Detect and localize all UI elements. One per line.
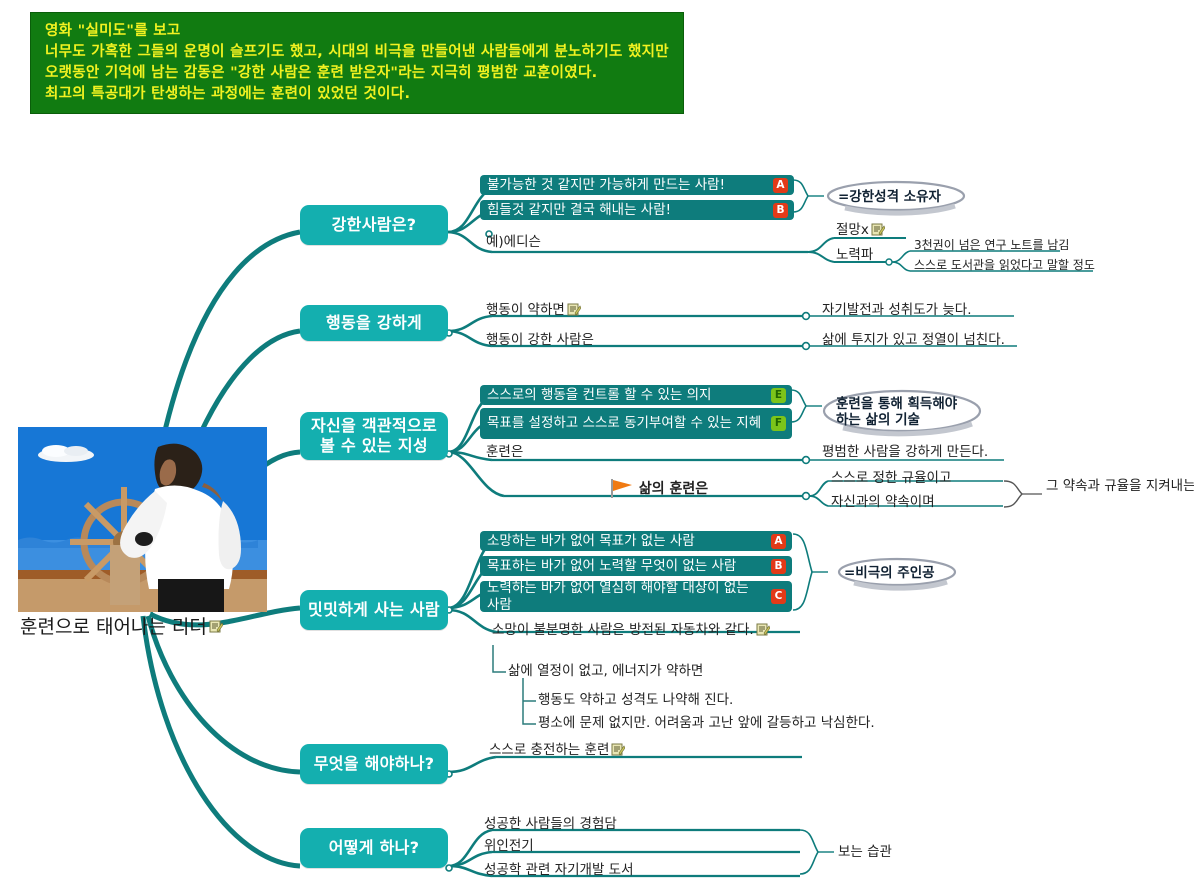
node-success-stories[interactable]: 성공한 사람들의 경험담 — [484, 816, 617, 833]
node-label: 평범한 사람을 강하게 만든다. — [822, 444, 988, 460]
node-self-promise[interactable]: 자신과의 약속이며 — [831, 494, 935, 511]
callout-strong-character: =강한성격 소유자 — [828, 188, 968, 206]
node-label: 자신과의 약속이며 — [831, 494, 935, 510]
header-note-line-4: 최고의 특공대가 탄생하는 과정에는 훈련이 있었던 것이다. — [45, 84, 673, 105]
branch-pill-what-to-do[interactable]: 무엇을 해야하나? — [300, 744, 448, 784]
badge-c: C — [771, 589, 786, 604]
header-note-line-2: 너무도 가혹한 그들의 운명이 슬프기도 했고, 시대의 비극을 만들어낸 사람… — [45, 42, 673, 63]
node-label: 평소에 문제 없지만. 어려움과 고난 앞에 갈등하고 낙심한다. — [538, 715, 875, 731]
node-label: 행동이 강한 사람은 — [486, 332, 594, 348]
node-life-training[interactable]: 삶의 훈련은 — [608, 478, 708, 498]
node-training-is[interactable]: 훈련은 — [486, 444, 523, 461]
node-will-control[interactable]: 스스로의 행동을 컨트롤 할 수 있는 의지 E — [480, 385, 792, 405]
node-no-hope-no-goal[interactable]: 소망하는 바가 없어 목표가 없는 사람 A — [480, 531, 792, 551]
note-icon[interactable] — [567, 303, 581, 316]
node-self-recharge[interactable]: 스스로 충전하는 훈련 — [489, 742, 625, 759]
node-no-passion[interactable]: 삶에 열정이 없고, 에너지가 약하면 — [508, 663, 703, 680]
node-conflict-discouraged[interactable]: 평소에 문제 없지만. 어려움과 고난 앞에 갈등하고 낙심한다. — [538, 715, 875, 732]
node-keep-promise[interactable]: 그 약속과 규율을 지켜내는 것이다. — [1046, 478, 1194, 495]
node-label: 그 약속과 규율을 지켜내는 것이다. — [1046, 478, 1194, 494]
node-label: 소망이 불분명한 사람은 방전된 자동차와 같다. — [492, 622, 754, 638]
branch-label: 무엇을 해야하나? — [314, 754, 435, 774]
callout-life-skill: 훈련을 통해 획득해야 하는 삶의 기술 — [826, 396, 996, 428]
callout-tragedy-hero: =비극의 주인공 — [834, 564, 964, 582]
node-label: 성공한 사람들의 경험담 — [484, 816, 617, 832]
callout-label: 보는 습관 — [838, 844, 892, 860]
callout-label: =강한성격 소유자 — [838, 189, 941, 205]
node-goal-motivation[interactable]: 목표를 설정하고 스스로 동기부여할 수 있는 지혜 F — [480, 408, 792, 439]
callout-reading-habit: 보는 습관 — [838, 844, 892, 861]
node-weak-action-result[interactable]: 자기발전과 성취도가 늦다. — [822, 302, 972, 319]
root-node-label: 훈련으로 태어나는 리더 — [20, 616, 207, 638]
node-no-goal-no-effort[interactable]: 목표하는 바가 없어 노력할 무엇이 없는 사람 B — [480, 556, 792, 576]
center-illustration[interactable] — [18, 427, 267, 612]
node-label: 절망x — [836, 222, 869, 238]
root-node-title[interactable]: 훈련으로 태어나는 리더 — [20, 612, 280, 638]
node-label: 행동이 약하면 — [486, 302, 565, 318]
callout-label: 훈련을 통해 획득해야 하는 삶의 기술 — [836, 396, 957, 428]
node-label: 행동도 약하고 성격도 나약해 진다. — [538, 692, 733, 708]
node-self-rule[interactable]: 스스로 정한 규율이고 — [831, 470, 951, 487]
node-label: 스스로의 행동을 컨트롤 할 수 있는 의지 — [487, 387, 765, 404]
node-strong-person-a[interactable]: 불가능한 것 같지만 가능하게 만드는 사람! A — [480, 175, 794, 195]
badge-a: A — [771, 534, 786, 549]
node-no-effort-no-target[interactable]: 노력하는 바가 없어 열심히 해야할 대상이 없는 사람 C — [480, 581, 792, 612]
note-icon[interactable] — [871, 223, 885, 236]
badge-a: A — [773, 178, 788, 193]
node-strong-action-result[interactable]: 삶에 투지가 있고 정열이 넘친다. — [822, 332, 1005, 349]
node-unclear-hope[interactable]: 소망이 불분명한 사람은 방전된 자동차와 같다. — [492, 622, 782, 639]
branch-label: 행동을 강하게 — [326, 313, 422, 333]
node-strong-person-b[interactable]: 힘들것 같지만 결국 해내는 사람! B — [480, 200, 794, 220]
node-weak-action[interactable]: 행동이 약하면 — [486, 302, 581, 319]
header-note-box: 영화 "실미도"를 보고 너무도 가혹한 그들의 운명이 슬프기도 했고, 시대… — [30, 12, 684, 114]
node-edison-library[interactable]: 스스로 도서관을 읽었다고 말할 정도 — [914, 258, 1095, 273]
node-training-makes-strong[interactable]: 평범한 사람을 강하게 만든다. — [822, 444, 988, 461]
node-weak-action-personality[interactable]: 행동도 약하고 성격도 나약해 진다. — [538, 692, 733, 709]
node-label: 삶에 투지가 있고 정열이 넘친다. — [822, 332, 1005, 348]
header-note-line-3: 오랫동안 기억에 남는 감동은 "강한 사람은 훈련 받은자"라는 지극히 평범… — [45, 63, 673, 84]
callout-label: =비극의 주인공 — [844, 565, 935, 581]
node-label: 성공학 관련 자기개발 도서 — [484, 862, 634, 878]
node-label: 훈련은 — [486, 444, 523, 460]
badge-b: B — [773, 203, 788, 218]
node-edison[interactable]: 예)에디슨 — [486, 234, 541, 251]
note-icon[interactable] — [209, 616, 223, 629]
branch-label: 밋밋하게 사는 사람 — [308, 600, 440, 620]
branch-pill-how-to-do[interactable]: 어떻게 하나? — [300, 828, 448, 868]
branch-pill-strong-person[interactable]: 강한사람은? — [300, 205, 448, 245]
note-icon[interactable] — [611, 743, 625, 756]
node-strong-action[interactable]: 행동이 강한 사람은 — [486, 332, 594, 349]
node-label: 힘들것 같지만 결국 해내는 사람! — [487, 202, 767, 219]
badge-b: B — [771, 559, 786, 574]
node-label: 삶의 훈련은 — [639, 481, 708, 497]
mindmap-canvas: 영화 "실미도"를 보고 너무도 가혹한 그들의 운명이 슬프기도 했고, 시대… — [0, 0, 1194, 893]
badge-f: F — [771, 416, 786, 431]
node-label: 삶에 열정이 없고, 에너지가 약하면 — [508, 663, 703, 679]
node-label: 예)에디슨 — [486, 234, 541, 250]
node-label: 노력하는 바가 없어 열심히 해야할 대상이 없는 사람 — [487, 580, 765, 614]
node-label: 노력파 — [836, 247, 873, 263]
branch-label: 강한사람은? — [332, 215, 417, 235]
flag-icon — [608, 478, 634, 498]
branch-pill-objective-intellect[interactable]: 자신을 객관적으로 볼 수 있는 지성 — [300, 412, 448, 460]
header-note-line-1: 영화 "실미도"를 보고 — [45, 21, 673, 42]
node-biographies[interactable]: 위인전기 — [484, 838, 534, 855]
node-label: 자기발전과 성취도가 늦다. — [822, 302, 972, 318]
node-label: 스스로 도서관을 읽었다고 말할 정도 — [914, 258, 1095, 272]
node-label: 목표하는 바가 없어 노력할 무엇이 없는 사람 — [487, 558, 765, 575]
node-self-help-books[interactable]: 성공학 관련 자기개발 도서 — [484, 862, 634, 879]
branch-pill-bland-life[interactable]: 밋밋하게 사는 사람 — [300, 590, 448, 630]
badge-e: E — [771, 388, 786, 403]
node-label: 위인전기 — [484, 838, 534, 854]
node-label: 소망하는 바가 없어 목표가 없는 사람 — [487, 533, 765, 550]
node-label: 스스로 충전하는 훈련 — [489, 742, 609, 758]
node-label: 스스로 정한 규율이고 — [831, 470, 951, 486]
branch-label: 자신을 객관적으로 볼 수 있는 지성 — [311, 416, 437, 456]
branch-pill-act-strongly[interactable]: 행동을 강하게 — [300, 305, 448, 341]
node-label: 목표를 설정하고 스스로 동기부여할 수 있는 지혜 — [487, 415, 765, 432]
node-label: 3천권이 넘은 연구 노트를 남김 — [914, 238, 1069, 252]
branch-label: 어떻게 하나? — [329, 838, 420, 858]
node-edison-notebooks[interactable]: 3천권이 넘은 연구 노트를 남김 — [914, 238, 1069, 253]
node-hard-worker[interactable]: 노력파 — [836, 247, 873, 264]
node-no-despair[interactable]: 절망x — [836, 222, 885, 239]
note-icon[interactable] — [756, 623, 770, 636]
node-label: 불가능한 것 같지만 가능하게 만드는 사람! — [487, 177, 767, 194]
